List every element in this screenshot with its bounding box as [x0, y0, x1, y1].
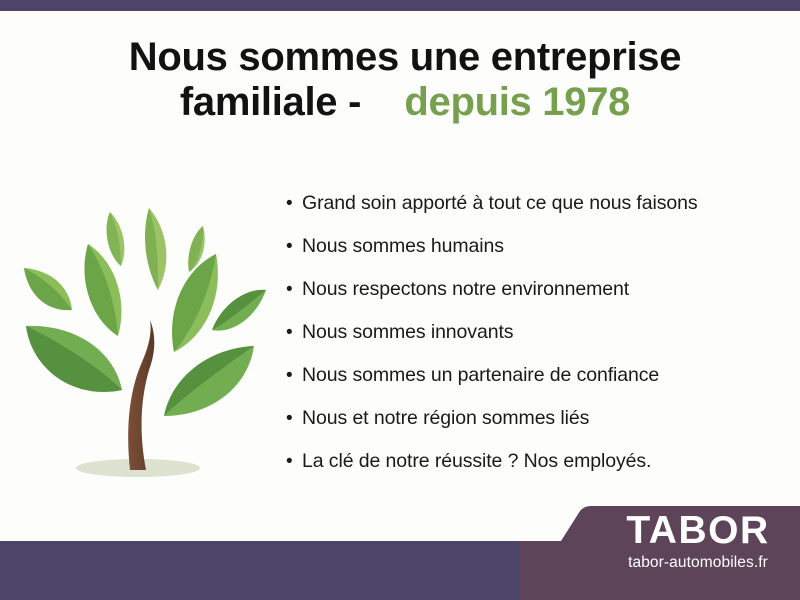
- list-item: • La clé de notre réussite ? Nos employé…: [286, 450, 786, 493]
- bullet-icon: •: [286, 280, 302, 299]
- bullet-icon: •: [286, 237, 302, 256]
- bullet-icon: •: [286, 366, 302, 385]
- tree-illustration: [18, 186, 268, 496]
- list-item: • Nous sommes innovants: [286, 321, 786, 364]
- tree-leaf-top-center: [145, 208, 166, 290]
- title-line-2: familiale - depuis 1978: [60, 80, 750, 125]
- list-item-label: Grand soin apporté à tout ce que nous fa…: [302, 192, 698, 215]
- tree-trunk: [128, 320, 154, 470]
- tree-leaf-left-lower: [26, 326, 122, 392]
- list-item: • Nous et notre région sommes liés: [286, 407, 786, 450]
- logo-text-group: TABOR tabor-automobiles.fr: [600, 511, 796, 574]
- list-item-label: Nous sommes innovants: [302, 321, 513, 344]
- bullet-icon: •: [286, 409, 302, 428]
- logo-wordmark: TABOR: [600, 511, 796, 551]
- list-item-label: Nous sommes humains: [302, 235, 504, 258]
- title-year-accent: depuis 1978: [404, 80, 630, 124]
- list-item-label: La clé de notre réussite ? Nos employés.: [302, 450, 651, 473]
- tree-leaf-right-lower: [164, 346, 254, 416]
- benefits-list: • Grand soin apporté à tout ce que nous …: [286, 192, 786, 493]
- list-item-label: Nous respectons notre environnement: [302, 278, 629, 301]
- title-line-2-plain: familiale -: [180, 80, 361, 124]
- logo-url: tabor-automobiles.fr: [600, 551, 796, 574]
- list-item-label: Nous et notre région sommes liés: [302, 407, 589, 430]
- tree-leaf-far-left: [24, 268, 72, 310]
- title-line-1: Nous sommes une entreprise: [60, 35, 750, 80]
- tree-leaf-upper-left-small: [107, 212, 125, 266]
- list-item-label: Nous sommes un partenaire de confiance: [302, 364, 659, 387]
- top-accent-bar: [0, 0, 800, 11]
- bullet-icon: •: [286, 452, 302, 471]
- list-item: • Nous sommes un partenaire de confiance: [286, 364, 786, 407]
- list-item: • Nous sommes humains: [286, 235, 786, 278]
- page-title: Nous sommes une entreprise familiale - d…: [60, 35, 750, 125]
- brand-logo[interactable]: TABOR tabor-automobiles.fr: [520, 505, 800, 600]
- list-item: • Grand soin apporté à tout ce que nous …: [286, 192, 786, 235]
- bullet-icon: •: [286, 323, 302, 342]
- tree-leaf-far-right: [212, 290, 266, 331]
- tree-icon: [18, 186, 268, 496]
- slide-canvas: Nous sommes une entreprise familiale - d…: [0, 0, 800, 600]
- list-item: • Nous respectons notre environnement: [286, 278, 786, 321]
- bullet-icon: •: [286, 194, 302, 213]
- tree-leaf-right-upper: [172, 254, 218, 352]
